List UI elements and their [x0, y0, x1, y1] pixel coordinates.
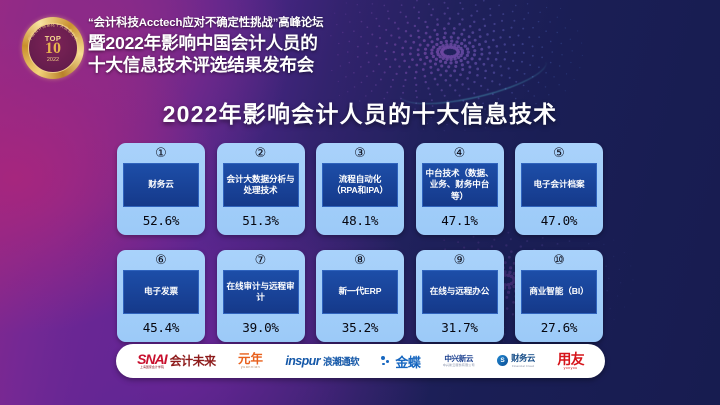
technology-card: ⑩商业智能（BI）27.6% [515, 250, 603, 342]
card-name-box: 电子发票 [123, 270, 199, 314]
inspur-chinese-name: 浪潮通软 [323, 354, 359, 368]
card-technology-name: 在线与远程办公 [430, 286, 489, 297]
page-title: 2022年影响会计人员的十大信息技术 [0, 95, 720, 129]
card-rank-number: ⑦ [255, 254, 267, 269]
zhongxing-subtitle: 中兴新云服务有限公司 [443, 363, 475, 367]
technology-card: ⑥电子发票45.4% [117, 250, 205, 342]
card-percentage: 48.1% [342, 213, 378, 228]
sponsor-yonyou: 用友 yonyou [557, 352, 583, 370]
card-name-box: 财务云 [123, 163, 199, 207]
header-line-2: 暨2022年影响中国会计人员的 [88, 33, 488, 55]
card-name-box: 新一代ERP [322, 270, 398, 314]
zhongxing-wordmark: 中兴新云 [443, 355, 475, 363]
card-rank-number: ③ [354, 147, 366, 162]
sponsor-caiwuyun: S 财务云 Financial Cloud [497, 354, 535, 367]
card-technology-name: 会计大数据分析与处理技术 [227, 174, 295, 197]
card-percentage: 35.2% [342, 320, 378, 335]
technology-card: ③流程自动化（RPA和IPA）48.1% [316, 143, 404, 235]
card-rank-number: ⑥ [155, 254, 167, 269]
card-technology-name: 在线审计与远程审计 [227, 281, 295, 304]
emblem-arc-text: 中国会计信息化十大信息技术 [21, 16, 85, 80]
card-percentage: 45.4% [143, 320, 179, 335]
sponsor-kingdee: 金蝶 [381, 352, 420, 371]
card-percentage: 39.0% [242, 320, 278, 335]
card-technology-name: 电子会计档案 [534, 179, 585, 190]
yuannian-subtitle: yuannian [238, 365, 263, 369]
card-rank-number: ⑤ [553, 147, 565, 162]
card-name-box: 在线审计与远程审计 [223, 270, 299, 314]
technology-card: ⑤电子会计档案47.0% [515, 143, 603, 235]
svg-text:中国会计信息化十大信息技术: 中国会计信息化十大信息技术 [26, 21, 80, 43]
card-percentage: 47.0% [541, 213, 577, 228]
card-percentage: 27.6% [541, 320, 577, 335]
card-rank-number: ⑧ [354, 254, 366, 269]
kingdee-dots-icon [381, 356, 392, 367]
yuannian-wordmark: 元年 [238, 353, 263, 366]
technology-card: ⑦在线审计与远程审计39.0% [217, 250, 305, 342]
event-header: “会计科技Acctech应对不确定性挑战”高峰论坛 暨2022年影响中国会计人员… [88, 14, 488, 77]
card-percentage: 52.6% [143, 213, 179, 228]
card-name-box: 流程自动化（RPA和IPA） [322, 163, 398, 207]
sponsor-snai: SNAI 上海国家会计学院 会计未来 [137, 352, 215, 369]
card-rank-number: ④ [454, 147, 466, 162]
card-technology-name: 财务云 [148, 179, 173, 190]
card-rank-number: ⑩ [553, 254, 565, 269]
card-percentage: 47.1% [441, 213, 477, 228]
kingdee-wordmark: 金蝶 [395, 352, 420, 371]
header-line-1: “会计科技Acctech应对不确定性挑战”高峰论坛 [88, 14, 488, 30]
card-rank-number: ⑨ [454, 254, 466, 269]
sponsor-yuannian: 元年 yuannian [238, 353, 263, 370]
card-name-box: 在线与远程办公 [422, 270, 498, 314]
card-technology-name: 商业智能（BI） [529, 286, 588, 297]
technology-card: ⑨在线与远程办公31.7% [416, 250, 504, 342]
card-percentage: 31.7% [441, 320, 477, 335]
sponsor-logo-bar: SNAI 上海国家会计学院 会计未来 元年 yuannian inspur 浪潮… [116, 344, 605, 378]
card-rank-number: ② [255, 147, 267, 162]
snai-chinese-name: 会计未来 [170, 352, 216, 369]
yonyou-wordmark: 用友 [557, 352, 583, 366]
technology-card: ②会计大数据分析与处理技术51.3% [217, 143, 305, 235]
caiwuyun-subtitle: Financial Cloud [511, 364, 535, 368]
card-percentage: 51.3% [242, 213, 278, 228]
card-technology-name: 电子发票 [144, 286, 178, 297]
card-rank-number: ① [155, 147, 167, 162]
sponsor-inspur: inspur 浪潮通软 [285, 354, 359, 368]
card-technology-name: 中台技术（数据、业务、财务中台等） [426, 168, 494, 202]
technology-card: ⑧新一代ERP35.2% [316, 250, 404, 342]
inspur-wordmark: inspur [285, 354, 320, 368]
card-name-box: 会计大数据分析与处理技术 [223, 163, 299, 207]
header-line-3: 十大信息技术评选结果发布会 [88, 55, 488, 77]
card-technology-name: 流程自动化（RPA和IPA） [326, 174, 394, 197]
card-name-box: 商业智能（BI） [521, 270, 597, 314]
sponsor-zhongxing: 中兴新云 中兴新云服务有限公司 [443, 355, 475, 367]
technology-card: ①财务云52.6% [117, 143, 205, 235]
technology-cards-grid: ①财务云52.6%②会计大数据分析与处理技术51.3%③流程自动化（RPA和IP… [117, 143, 603, 342]
snai-subtitle: 上海国家会计学院 [137, 366, 166, 369]
caiwuyun-wordmark: 财务云 [511, 354, 535, 363]
card-name-box: 电子会计档案 [521, 163, 597, 207]
card-name-box: 中台技术（数据、业务、财务中台等） [422, 163, 498, 207]
top10-emblem: TOP 10 2022 中国会计信息化十大信息技术 [22, 17, 84, 79]
card-technology-name: 新一代ERP [339, 286, 382, 297]
technology-card: ④中台技术（数据、业务、财务中台等）47.1% [416, 143, 504, 235]
slide-background: TOP 10 2022 中国会计信息化十大信息技术 “会计科技Acctech应对… [0, 0, 720, 405]
caiwuyun-logo-icon: S [497, 355, 508, 366]
